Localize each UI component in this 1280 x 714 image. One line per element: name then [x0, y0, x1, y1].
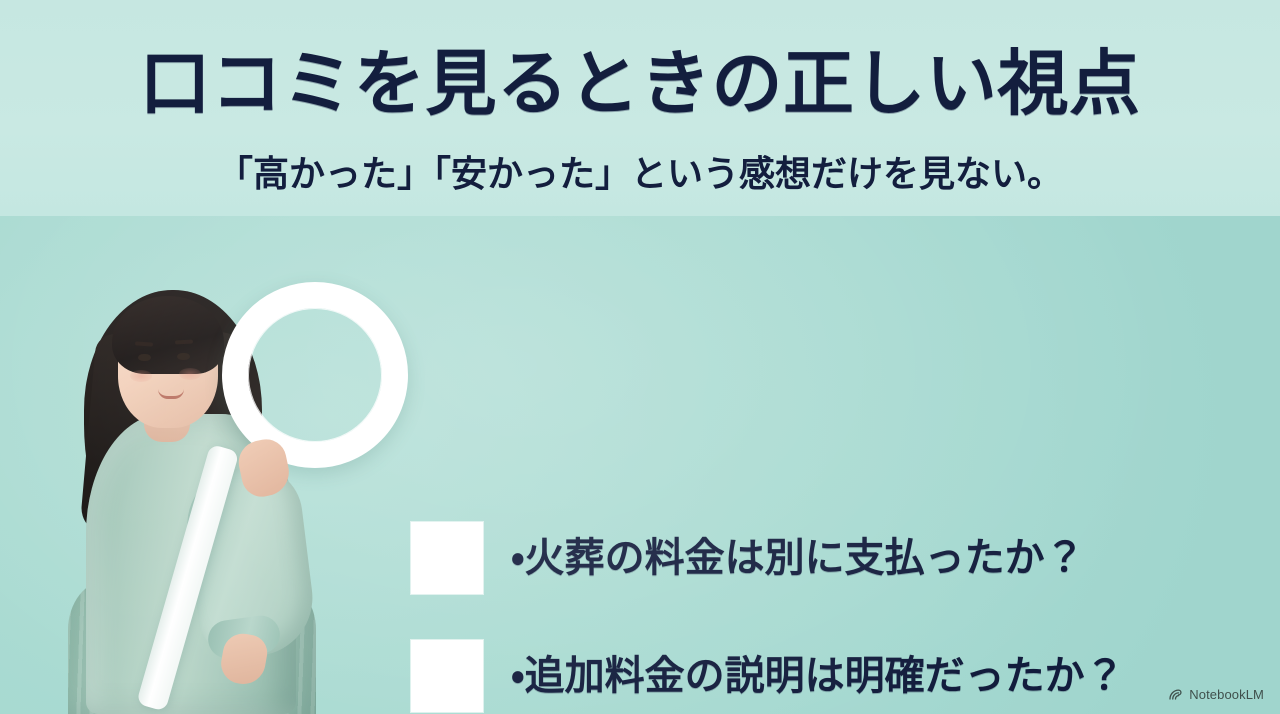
checklist-item-label: ・火葬の料金は別に支払ったか？ [511, 538, 1085, 578]
eye-left [138, 354, 151, 361]
notebooklm-watermark: NotebookLM [1168, 687, 1264, 702]
page-subtitle: 「高かった」「安かった」という感想だけを見ない。 [0, 157, 1280, 193]
slide-root: 口コミを見るときの正しい視点 「高かった」「安かった」という感想だけを見ない。 [0, 0, 1280, 714]
magnifying-glass-icon [222, 282, 408, 468]
notebooklm-label: NotebookLM [1189, 687, 1264, 702]
eye-right [177, 353, 190, 360]
notebooklm-spiral-icon [1168, 687, 1183, 702]
checkbox-icon[interactable] [411, 640, 483, 712]
header-band: 口コミを見るときの正しい視点 「高かった」「安かった」という感想だけを見ない。 [0, 0, 1280, 216]
checklist-item: ・追加料金の説明は明確だったか？ [411, 640, 1241, 712]
page-title: 口コミを見るときの正しい視点 [0, 48, 1280, 119]
checklist-item: ・火葬の料金は別に支払ったか？ [411, 522, 1241, 594]
checkbox-icon[interactable] [411, 522, 483, 594]
woman-portrait [34, 262, 434, 714]
checklist: ・火葬の料金は別に支払ったか？ ・追加料金の説明は明確だったか？ ・希望した内容… [411, 522, 1241, 714]
photo-region: ・火葬の料金は別に支払ったか？ ・追加料金の説明は明確だったか？ ・希望した内容… [0, 216, 1280, 714]
blush-right [179, 368, 201, 380]
blush-left [130, 370, 152, 382]
checklist-item-label: ・追加料金の説明は明確だったか？ [511, 656, 1125, 696]
